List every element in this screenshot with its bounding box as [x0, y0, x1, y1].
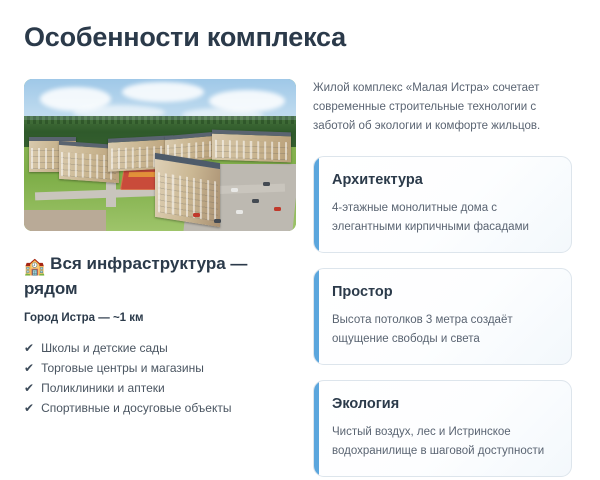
feature-card-space: Простор Высота потолков 3 метра создаёт …: [313, 268, 572, 365]
photo-car: [214, 219, 221, 223]
list-item-label: Школы и детские сады: [41, 338, 168, 358]
feature-card-architecture: Архитектура 4-этажные монолитные дома с …: [313, 156, 572, 253]
card-text: Высота потолков 3 метра создаёт ощущение…: [332, 311, 555, 349]
photo-car: [274, 207, 281, 211]
infrastructure-heading-text: Вся инфраструктура — рядом: [24, 254, 247, 298]
list-item: ✔ Спортивные и досуговые объекты: [24, 398, 296, 418]
photo-car: [236, 210, 243, 214]
photo-car: [263, 182, 270, 186]
list-item-label: Спортивные и досуговые объекты: [41, 398, 231, 418]
complex-aerial-photo: [24, 79, 296, 231]
check-icon: ✔: [24, 378, 34, 398]
list-item: ✔ Торговые центры и магазины: [24, 358, 296, 378]
left-column: 🏫Вся инфраструктура — рядом Город Истра …: [24, 79, 296, 418]
card-title: Экология: [332, 394, 555, 414]
list-item-label: Торговые центры и магазины: [41, 358, 204, 378]
intro-paragraph: Жилой комплекс «Малая Истра» сочетает со…: [313, 79, 569, 136]
list-item: ✔ Поликлиники и аптеки: [24, 378, 296, 398]
infrastructure-subtitle: Город Истра — ~1 км: [24, 312, 296, 324]
check-icon: ✔: [24, 358, 34, 378]
feature-card-ecology: Экология Чистый воздух, лес и Истринское…: [313, 380, 572, 477]
photo-dirt-area: [24, 210, 106, 231]
card-text: Чистый воздух, лес и Истринское водохран…: [332, 423, 555, 461]
photo-building-foreground: [155, 153, 220, 227]
check-icon: ✔: [24, 398, 34, 418]
card-title: Простор: [332, 282, 555, 302]
photo-car: [193, 213, 200, 217]
cloud-shape: [122, 82, 204, 102]
right-column: Жилой комплекс «Малая Истра» сочетает со…: [313, 79, 572, 477]
amenities-checklist: ✔ Школы и детские сады ✔ Торговые центры…: [24, 338, 296, 418]
slide-root: Особенности комплекса: [0, 0, 600, 480]
photo-car: [231, 188, 238, 192]
list-item-label: Поликлиники и аптеки: [41, 378, 165, 398]
photo-car: [252, 199, 259, 203]
card-title: Архитектура: [332, 170, 555, 190]
photo-building: [212, 129, 291, 162]
list-item: ✔ Школы и детские сады: [24, 338, 296, 358]
infrastructure-heading: 🏫Вся инфраструктура — рядом: [24, 253, 296, 300]
check-icon: ✔: [24, 338, 34, 358]
school-building-icon: 🏫: [24, 256, 45, 278]
page-title: Особенности комплекса: [24, 20, 346, 54]
card-text: 4-этажные монолитные дома с элегантными …: [332, 199, 555, 237]
